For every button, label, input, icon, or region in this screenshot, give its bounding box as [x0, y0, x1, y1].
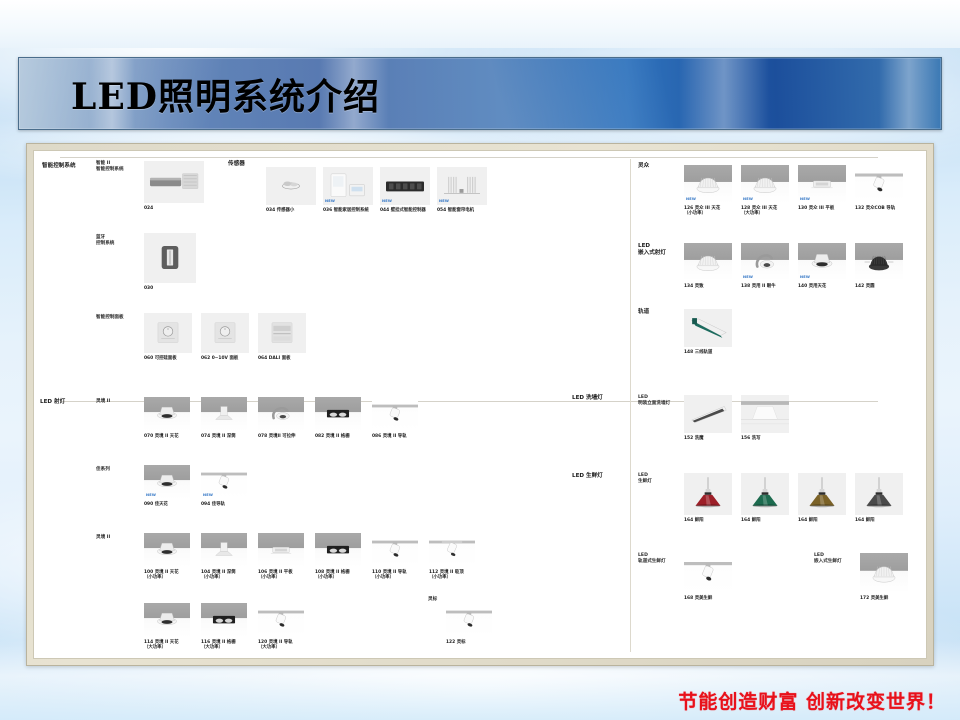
group-title-jia-series: 佳系列	[96, 467, 110, 473]
column-divider	[630, 159, 631, 652]
product-caption: 090 佳天花	[144, 502, 200, 507]
product-thumbnail[interactable]	[798, 473, 846, 515]
product-caption: 036 智能家居控制系统	[323, 208, 379, 213]
catalog-item[interactable]: NEW094 佳导轨	[201, 465, 257, 499]
product-illustration	[855, 473, 903, 515]
catalog-item[interactable]: 156 洗写	[741, 395, 797, 433]
catalog-item[interactable]: 070 灵境 II 天花	[144, 397, 200, 431]
product-illustration	[144, 313, 192, 353]
product-illustration	[258, 603, 304, 637]
product-thumbnail[interactable]	[741, 473, 789, 515]
catalog-item[interactable]: 120 灵境 II 导轨 （大功率）	[258, 603, 314, 637]
product-caption: 112 灵境 II 吸顶 （小功率）	[429, 570, 485, 580]
catalog-item[interactable]: 164 鲜阳	[684, 473, 740, 515]
product-caption: 030	[144, 286, 196, 291]
product-illustration	[315, 533, 361, 567]
product-thumbnail[interactable]	[258, 397, 304, 431]
catalog-item[interactable]: 078 灵境II 可拉伸	[258, 397, 314, 431]
product-illustration	[855, 165, 903, 203]
catalog-board-frame: 智能控制系统智能 II 智能控制系统024蓝牙 控制系统030智能控制面板060…	[26, 143, 934, 666]
product-caption: 126 灵众 III 天花 （小功率）	[684, 206, 740, 216]
product-thumbnail[interactable]	[684, 243, 732, 281]
product-thumbnail[interactable]: NEW	[798, 165, 846, 203]
group-title-lingjing2: 灵境 II	[96, 399, 110, 405]
product-caption: 164 鲜阳	[741, 518, 797, 523]
product-caption: 156 洗写	[741, 436, 797, 441]
catalog-item[interactable]: 064 DALI 面板	[258, 313, 314, 353]
product-illustration	[429, 533, 475, 567]
catalog-item[interactable]: 164 鲜阳	[741, 473, 797, 515]
product-illustration	[372, 533, 418, 567]
product-thumbnail[interactable]	[684, 473, 732, 515]
catalog-item[interactable]: 034 传感器小	[266, 167, 322, 205]
catalog-item[interactable]: 112 灵境 II 吸顶 （小功率）	[429, 533, 485, 567]
product-caption: 104 灵境 II 深筒 （小功率）	[201, 570, 257, 580]
title-light-streak	[879, 58, 939, 129]
new-badge: NEW	[382, 199, 392, 203]
product-caption: 060 可控硅面板	[144, 356, 200, 361]
product-caption: 130 灵众 III 平板	[798, 206, 854, 211]
product-thumbnail[interactable]	[144, 161, 204, 203]
section-title-track: 轨道	[638, 309, 649, 316]
title-light-streak	[679, 58, 769, 129]
product-caption: 134 灵致	[684, 284, 740, 289]
catalog-item[interactable]: NEW128 灵众 III 天花 （大功率）	[741, 165, 797, 203]
product-illustration	[201, 397, 247, 431]
product-caption: 132 灵众COB 导轨	[855, 206, 911, 211]
catalog-item[interactable]: 024	[144, 161, 204, 203]
product-thumbnail[interactable]	[144, 313, 192, 353]
product-thumbnail[interactable]	[446, 603, 492, 637]
catalog-item[interactable]: 116 灵境 II 格栅 （大功率）	[201, 603, 257, 637]
slide-title-bar: LED照明系统介绍	[18, 57, 942, 130]
product-thumbnail[interactable]	[144, 603, 190, 637]
group-title-bluetooth: 蓝牙 控制系统	[96, 235, 114, 247]
product-illustration	[144, 161, 204, 203]
product-thumbnail[interactable]	[684, 553, 732, 593]
catalog-item[interactable]: 172 灵美生鲜	[860, 553, 916, 593]
product-caption: 082 灵境 II 格栅	[315, 434, 371, 439]
catalog-item[interactable]: 108 灵境 II 格栅 （小功率）	[315, 533, 371, 567]
page-divider	[60, 157, 878, 158]
cloud-band-top	[0, 0, 960, 48]
catalog-page: 智能控制系统智能 II 智能控制系统024蓝牙 控制系统030智能控制面板060…	[33, 150, 927, 659]
product-thumbnail[interactable]	[144, 233, 196, 283]
product-caption: 044 壁挂式智能控制器	[380, 208, 436, 213]
product-caption: 094 佳导轨	[201, 502, 257, 507]
group-title-lingjing2-low: 灵境 II	[96, 535, 110, 541]
section-title-fresh-light: LED 生鲜灯	[572, 473, 603, 480]
product-thumbnail[interactable]: NEW	[741, 165, 789, 203]
product-caption: 024	[144, 206, 204, 211]
section-title-led-recessed: LED 嵌入式射灯	[638, 243, 666, 257]
catalog-item[interactable]: NEW138 灵用 II 眼牛	[741, 243, 797, 281]
product-thumbnail[interactable]	[144, 533, 190, 567]
product-caption: 120 灵境 II 导轨 （大功率）	[258, 640, 314, 650]
new-badge: NEW	[743, 275, 753, 279]
new-badge: NEW	[146, 493, 156, 497]
product-illustration	[144, 603, 190, 637]
group-title-fresh-pendant: LED 生鲜灯	[638, 473, 652, 485]
product-thumbnail[interactable]	[855, 473, 903, 515]
catalog-item[interactable]: NEW140 灵用天花	[798, 243, 854, 281]
product-thumbnail[interactable]: NEW	[798, 243, 846, 281]
product-caption: 054 智能窗帘电机	[437, 208, 493, 213]
product-thumbnail[interactable]	[144, 397, 190, 431]
catalog-item[interactable]: NEW090 佳天花	[144, 465, 200, 499]
product-caption: 110 灵境 II 导轨 （小功率）	[372, 570, 428, 580]
catalog-item[interactable]: 142 灵圆	[855, 243, 911, 281]
product-caption: 138 灵用 II 眼牛	[741, 284, 797, 289]
catalog-item[interactable]: NEW126 灵众 III 天花 （小功率）	[684, 165, 740, 203]
group-title-fresh-recessed: LED 嵌入式生鲜灯	[814, 553, 842, 565]
product-illustration	[201, 313, 249, 353]
product-illustration	[446, 603, 492, 637]
product-thumbnail[interactable]	[855, 243, 903, 281]
section-title-smart-control: 智能控制系统	[42, 163, 76, 170]
catalog-item[interactable]: 082 灵境 II 格栅	[315, 397, 371, 431]
catalog-item[interactable]: 164 鲜阳	[855, 473, 911, 515]
catalog-item[interactable]: 030	[144, 233, 196, 283]
group-title-smart-panel: 智能控制面板	[96, 315, 124, 321]
catalog-item[interactable]: 134 灵致	[684, 243, 740, 281]
section-title-lingzhong: 灵众	[638, 163, 649, 170]
product-caption: 172 灵美生鲜	[860, 596, 916, 601]
product-caption: 074 灵境 II 深筒	[201, 434, 257, 439]
group-title-fresh-track: LED 轨道式生鲜灯	[638, 553, 666, 565]
product-illustration	[258, 313, 306, 353]
product-thumbnail[interactable]	[266, 167, 316, 205]
product-thumbnail[interactable]: NEW	[684, 165, 732, 203]
product-illustration	[258, 533, 304, 567]
product-illustration	[741, 395, 789, 433]
slide-canvas: LED照明系统介绍 智能控制系统智能 II 智能控制系统024蓝牙 控制系统03…	[0, 0, 960, 720]
product-thumbnail[interactable]	[741, 395, 789, 433]
catalog-item[interactable]: 110 灵境 II 导轨 （小功率）	[372, 533, 428, 567]
product-caption: 142 灵圆	[855, 284, 911, 289]
product-illustration	[258, 397, 304, 431]
product-caption: 164 鲜阳	[684, 518, 740, 523]
new-badge: NEW	[325, 199, 335, 203]
catalog-item[interactable]: 148 三线轨道	[684, 309, 740, 347]
new-badge: NEW	[743, 197, 753, 201]
product-caption: 164 鲜阳	[855, 518, 911, 523]
catalog-item[interactable]: 100 灵境 II 天花 （小功率）	[144, 533, 200, 567]
product-illustration	[144, 233, 196, 283]
product-illustration	[684, 395, 732, 433]
product-caption: 078 灵境II 可拉伸	[258, 434, 314, 439]
product-thumbnail[interactable]	[201, 603, 247, 637]
catalog-item[interactable]: 104 灵境 II 深筒 （小功率）	[201, 533, 257, 567]
product-thumbnail[interactable]	[684, 395, 732, 433]
product-thumbnail[interactable]: NEW	[437, 167, 487, 205]
product-illustration	[315, 397, 361, 431]
catalog-item[interactable]: NEW044 壁挂式智能控制器	[380, 167, 436, 205]
product-thumbnail[interactable]	[201, 313, 249, 353]
product-thumbnail[interactable]	[315, 397, 361, 431]
product-caption: 100 灵境 II 天花 （小功率）	[144, 570, 200, 580]
catalog-item[interactable]: 086 灵境 II 导轨	[372, 397, 428, 431]
product-illustration	[684, 309, 732, 347]
new-badge: NEW	[800, 197, 810, 201]
product-thumbnail[interactable]: NEW	[323, 167, 373, 205]
product-caption: 114 灵境 II 天花 （大功率）	[144, 640, 200, 650]
product-caption: 152 洗魔	[684, 436, 740, 441]
catalog-item[interactable]: 106 灵境 II 平板 （小功率）	[258, 533, 314, 567]
group-title-smart-control: 智能 II 智能控制系统	[96, 161, 124, 173]
product-thumbnail[interactable]	[860, 553, 908, 593]
catalog-item[interactable]: 164 鲜阳	[798, 473, 854, 515]
product-thumbnail[interactable]: NEW	[380, 167, 430, 205]
new-badge: NEW	[800, 275, 810, 279]
product-caption: 070 灵境 II 天花	[144, 434, 200, 439]
catalog-item[interactable]: 122 灵标	[446, 603, 502, 637]
product-caption: 108 灵境 II 格栅 （小功率）	[315, 570, 371, 580]
product-thumbnail[interactable]	[429, 533, 475, 567]
catalog-item[interactable]: NEW054 智能窗帘电机	[437, 167, 493, 205]
product-thumbnail[interactable]	[372, 397, 418, 431]
catalog-item[interactable]: 060 可控硅面板	[144, 313, 200, 353]
product-illustration	[741, 473, 789, 515]
product-thumbnail[interactable]	[258, 533, 304, 567]
catalog-item[interactable]: 114 灵境 II 天花 （大功率）	[144, 603, 200, 637]
product-illustration	[798, 473, 846, 515]
product-caption: 148 三线轨道	[684, 350, 740, 355]
product-thumbnail[interactable]	[258, 313, 306, 353]
product-illustration	[144, 533, 190, 567]
page-title: LED照明系统介绍	[71, 68, 380, 120]
product-illustration	[266, 167, 316, 205]
product-illustration	[684, 243, 732, 281]
product-caption: 062 0~10V 面板	[201, 356, 257, 361]
catalog-item[interactable]: 132 灵众COB 导轨	[855, 165, 911, 203]
product-illustration	[684, 553, 732, 593]
product-illustration	[201, 533, 247, 567]
product-thumbnail[interactable]: NEW	[741, 243, 789, 281]
product-thumbnail[interactable]: NEW	[201, 465, 247, 499]
product-caption: 106 灵境 II 平板 （小功率）	[258, 570, 314, 580]
catalog-content: 智能控制系统智能 II 智能控制系统024蓝牙 控制系统030智能控制面板060…	[34, 151, 927, 659]
product-thumbnail[interactable]	[201, 533, 247, 567]
product-illustration	[372, 397, 418, 431]
product-caption: 168 灵美生鲜	[684, 596, 740, 601]
product-caption: 122 灵标	[446, 640, 502, 645]
new-badge: NEW	[686, 197, 696, 201]
product-caption: 140 灵用天花	[798, 284, 854, 289]
product-thumbnail[interactable]	[855, 165, 903, 203]
product-thumbnail[interactable]	[258, 603, 304, 637]
footer-slogan: 节能创造财富 创新改变世界！	[678, 687, 946, 714]
new-badge: NEW	[203, 493, 213, 497]
product-caption: 064 DALI 面板	[258, 356, 314, 361]
product-illustration	[144, 397, 190, 431]
product-caption: 116 灵境 II 格栅 （大功率）	[201, 640, 257, 650]
group-title-wall-washer: LED 明装立面洗墙灯	[638, 395, 670, 407]
section-title-sensor: 传感器	[228, 161, 245, 168]
new-badge: NEW	[439, 199, 449, 203]
catalog-item[interactable]: 168 灵美生鲜	[684, 553, 740, 593]
catalog-item[interactable]: 074 灵境 II 深筒	[201, 397, 257, 431]
catalog-item[interactable]: 062 0~10V 面板	[201, 313, 257, 353]
product-thumbnail[interactable]: NEW	[144, 465, 190, 499]
product-thumbnail[interactable]	[201, 397, 247, 431]
catalog-item[interactable]: NEW036 智能家居控制系统	[323, 167, 379, 205]
product-caption: 086 灵境 II 导轨	[372, 434, 428, 439]
product-caption: 128 灵众 III 天花 （大功率）	[741, 206, 797, 216]
section-title-led-spotlight: LED 射灯	[40, 399, 100, 406]
product-caption: 034 传感器小	[266, 208, 322, 213]
product-illustration	[855, 243, 903, 281]
product-illustration	[684, 473, 732, 515]
group-title-lingbiao: 灵标	[428, 597, 437, 603]
product-thumbnail[interactable]	[315, 533, 361, 567]
product-thumbnail[interactable]	[372, 533, 418, 567]
product-caption: 164 鲜阳	[798, 518, 854, 523]
section-title-wall-washer: LED 洗墙灯	[572, 395, 603, 402]
product-thumbnail[interactable]	[684, 309, 732, 347]
product-illustration	[201, 603, 247, 637]
product-illustration	[860, 553, 908, 593]
catalog-item[interactable]: NEW130 灵众 III 平板	[798, 165, 854, 203]
catalog-item[interactable]: 152 洗魔	[684, 395, 740, 433]
